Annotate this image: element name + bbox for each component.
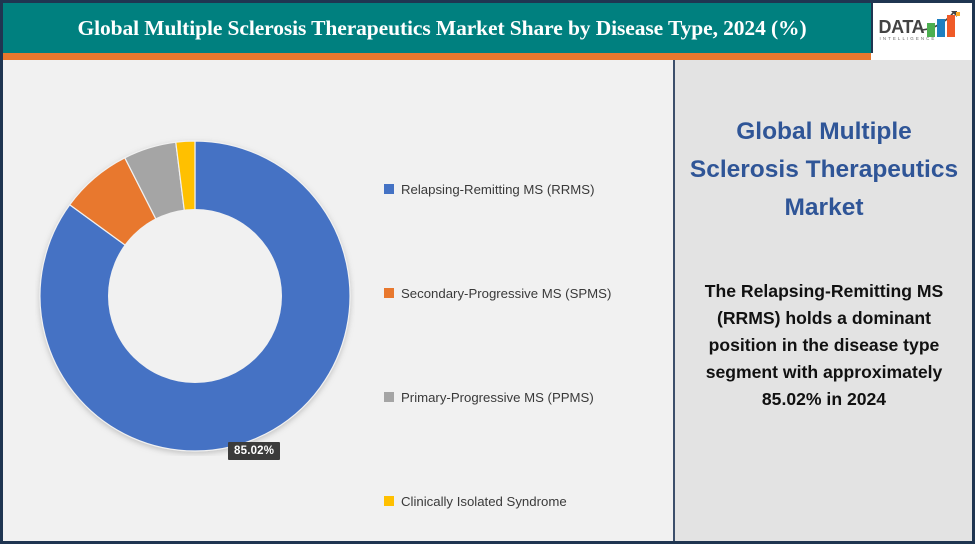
legend-label-cis: Clinically Isolated Syndrome xyxy=(401,494,567,509)
legend-item-ppms[interactable]: Primary-Progressive MS (PPMS) xyxy=(384,386,664,408)
donut-chart xyxy=(35,136,355,456)
chart-legend: Relapsing-Remitting MS (RRMS) Secondary-… xyxy=(384,178,664,512)
legend-label-rrms: Relapsing-Remitting MS (RRMS) xyxy=(401,182,594,197)
legend-item-rrms[interactable]: Relapsing-Remitting MS (RRMS) xyxy=(384,178,664,200)
logo-accent-dot-icon xyxy=(956,12,960,16)
legend-swatch-spms xyxy=(384,288,394,298)
logo-bar-blue-icon xyxy=(937,19,945,37)
legend-swatch-ppms xyxy=(384,392,394,402)
brand-logo: DATA INTELLIGENCE xyxy=(871,3,972,53)
chart-panel: 85.02% Relapsing-Remitting MS (RRMS) Sec… xyxy=(3,60,673,541)
donut-hole xyxy=(108,209,282,383)
donut-value-label: 85.02% xyxy=(228,442,280,460)
page-title: Global Multiple Sclerosis Therapeutics M… xyxy=(3,16,871,41)
summary-panel: Global Multiple Sclerosis Therapeutics M… xyxy=(673,60,972,541)
legend-item-cis[interactable]: Clinically Isolated Syndrome xyxy=(384,490,664,512)
summary-title: Global Multiple Sclerosis Therapeutics M… xyxy=(689,113,959,227)
legend-swatch-cis xyxy=(384,496,394,506)
summary-body-text: The Relapsing-Remitting MS (RRMS) holds … xyxy=(687,278,961,413)
donut-chart-svg xyxy=(35,136,355,456)
legend-item-spms[interactable]: Secondary-Progressive MS (SPMS) xyxy=(384,282,664,304)
header-accent-stripe xyxy=(3,53,871,60)
legend-label-spms: Secondary-Progressive MS (SPMS) xyxy=(401,286,611,301)
logo-inner: DATA INTELLIGENCE xyxy=(877,8,969,48)
logo-wordmark: DATA xyxy=(879,17,925,38)
logo-bar-orange-icon xyxy=(947,15,955,37)
header-bar: Global Multiple Sclerosis Therapeutics M… xyxy=(3,3,972,53)
legend-label-ppms: Primary-Progressive MS (PPMS) xyxy=(401,390,594,405)
infographic-root: Global Multiple Sclerosis Therapeutics M… xyxy=(0,0,975,544)
logo-bar-green-icon xyxy=(927,23,935,37)
legend-swatch-rrms xyxy=(384,184,394,194)
